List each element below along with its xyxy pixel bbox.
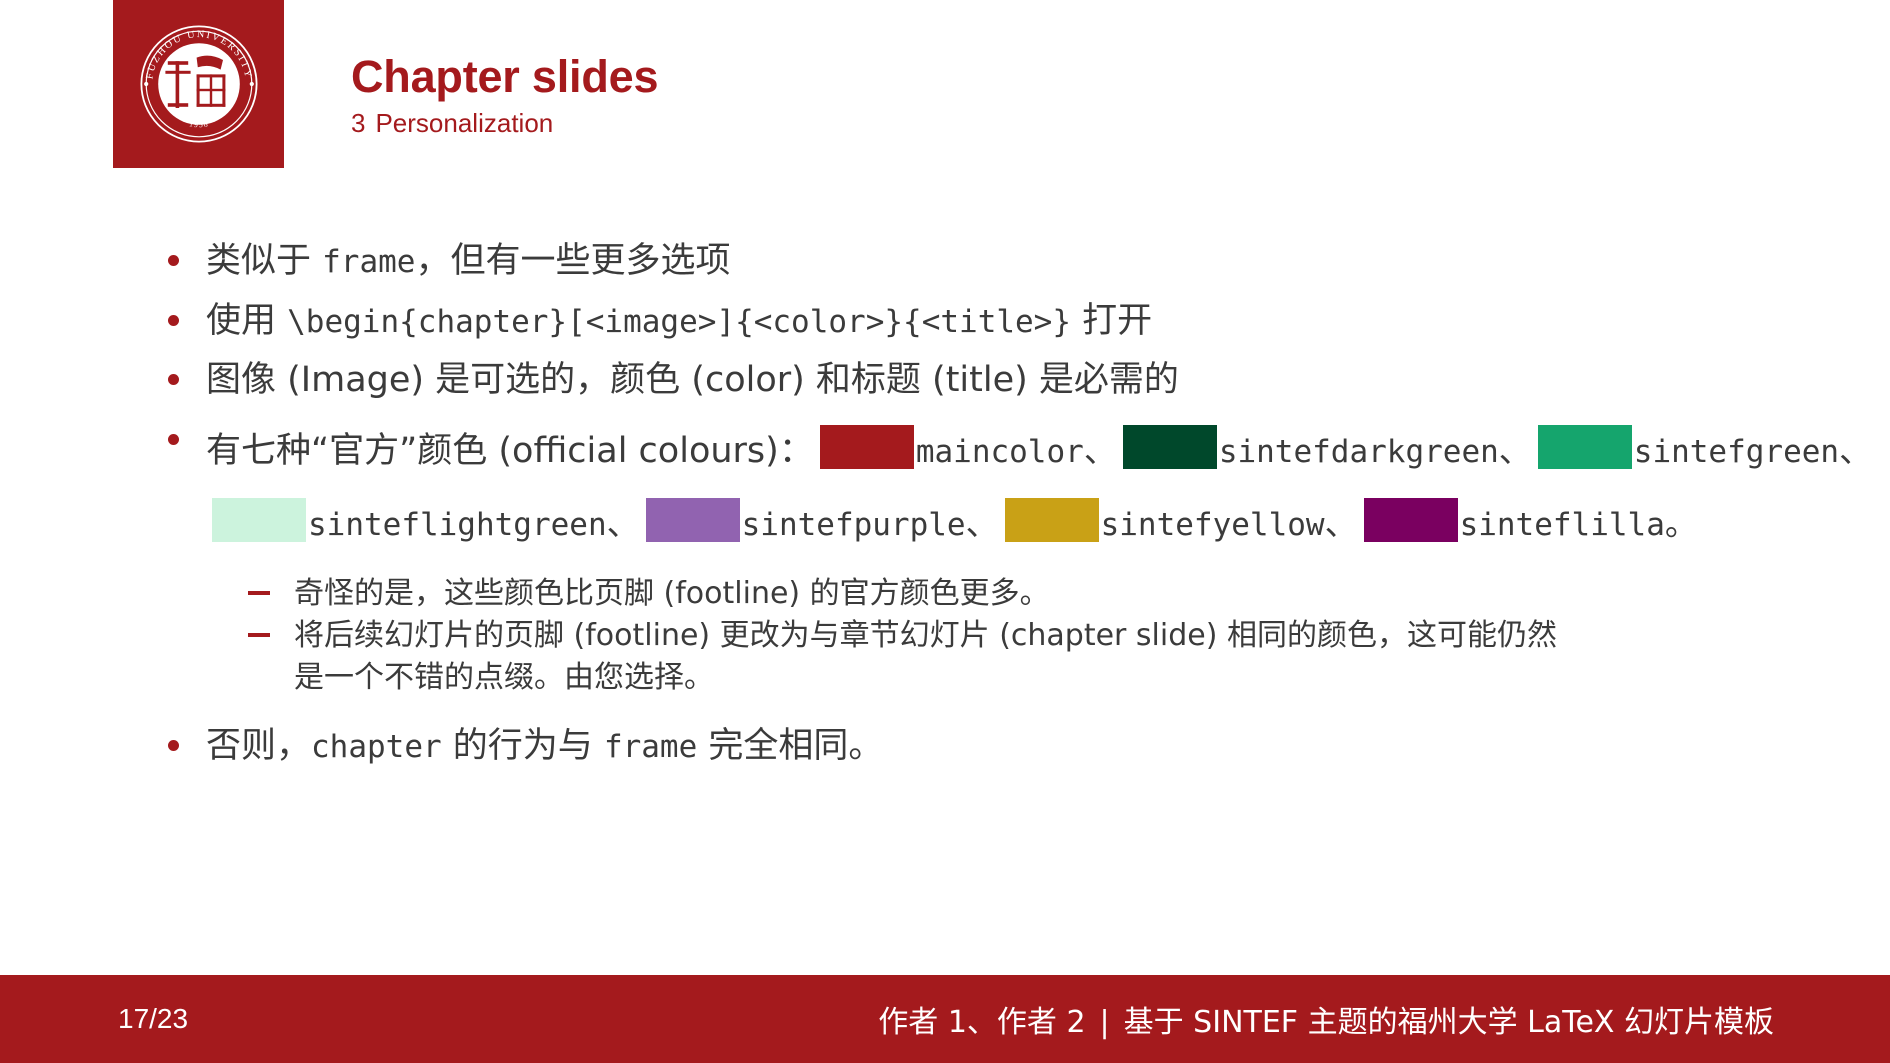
footer-caption: 作者 1、作者 2|基于 SINTEF 主题的福州大学 LaTeX 幻灯片模板 — [878, 997, 1774, 1041]
swatch-label-sinteflilla: sinteflilla — [1460, 507, 1665, 543]
bullet-text-segment: 打开 — [1071, 301, 1152, 341]
final-bullet-list: 否则，chapter 的行为与 frame 完全相同。 — [0, 721, 1890, 772]
swatch-sinteflilla — [1364, 498, 1458, 542]
swatch-label-sinteflightgreen: sinteflightgreen — [308, 507, 607, 543]
footer-divider: | — [1100, 1005, 1110, 1040]
sub-bullet-text: 将后续幻灯片的页脚 (footline) 更改为与章节幻灯片 (chapter … — [294, 618, 1557, 695]
bullet-text-segment: 否则， — [206, 726, 311, 766]
page-title: Chapter slides — [351, 54, 1551, 99]
bullet-code-segment: \begin{chapter}[<image>]{<color>}{<title… — [287, 304, 1071, 340]
bullet-otherwise: 否则，chapter 的行为与 frame 完全相同。 — [160, 721, 1890, 772]
swatch-label-sintefyellow: sintefyellow — [1101, 507, 1325, 543]
footer-bar: 17/23 作者 1、作者 2|基于 SINTEF 主题的福州大学 LaTeX … — [0, 975, 1890, 1063]
bullet-similar-to-frame: 类似于 frame，但有一些更多选项 — [160, 236, 1890, 287]
swatch-label-sintefdarkgreen: sintefdarkgreen — [1219, 434, 1499, 470]
bullet-text-segment: 的行为与 — [442, 726, 604, 766]
section-number: 3 — [351, 108, 365, 138]
swatch-sintefgreen — [1538, 425, 1632, 469]
bullet-text-segment: 使用 — [206, 301, 287, 341]
colour-separator: 、 — [1839, 431, 1872, 470]
colours-lead-text: 有七种“官方”颜色 (official colours)： — [206, 431, 814, 471]
page-subtitle: 3Personalization — [351, 108, 1551, 139]
swatch-label-maincolor: maincolor — [916, 434, 1084, 470]
bullet-usage: 使用 \begin{chapter}[<image>]{<color>}{<ti… — [160, 296, 1890, 347]
swatch-sintefdarkgreen — [1123, 425, 1217, 469]
bullet-code-segment: frame — [604, 729, 697, 765]
colour-separator: 、 — [607, 504, 640, 543]
footer-template-name: 基于 SINTEF 主题的福州大学 LaTeX 幻灯片模板 — [1124, 1005, 1774, 1040]
slide-root: FUZHOU UNIVERSITY 1958 Chapt — [0, 0, 1890, 1063]
colour-separator: 、 — [966, 504, 999, 543]
colour-separator: 、 — [1499, 431, 1532, 470]
fuzhou-university-seal-icon: FUZHOU UNIVERSITY 1958 — [139, 24, 259, 144]
bullet-code-segment: chapter — [311, 729, 442, 765]
dash-bullet-icon — [248, 633, 270, 637]
swatch-label-sintefgreen: sintefgreen — [1634, 434, 1839, 470]
sub-bullet-list: 奇怪的是，这些颜色比页脚 (footline) 的官方颜色更多。 将后续幻灯片的… — [0, 573, 1890, 699]
svg-text:1958: 1958 — [188, 119, 209, 129]
colour-separator: 、 — [1325, 504, 1358, 543]
colour-terminator: 。 — [1665, 504, 1698, 543]
sub-bullet-text: 奇怪的是，这些颜色比页脚 (footline) 的官方颜色更多。 — [294, 576, 1050, 611]
bullet-dot-icon — [168, 374, 179, 385]
bullet-text-segment: 完全相同。 — [697, 726, 883, 766]
swatch-sintefpurple — [646, 498, 740, 542]
swatch-sintefyellow — [1005, 498, 1099, 542]
colour-separator: 、 — [1084, 431, 1117, 470]
bullet-dot-icon — [168, 434, 179, 445]
colours-flow: 有七种“官方”颜色 (official colours)：maincolor、s… — [206, 415, 1890, 561]
swatch-label-sintefpurple: sintefpurple — [742, 507, 966, 543]
bullet-text-segment: 类似于 — [206, 241, 322, 281]
sub-bullet-footline-colour: 将后续幻灯片的页脚 (footline) 更改为与章节幻灯片 (chapter … — [248, 615, 1568, 699]
bullet-image-optional: 图像 (Image) 是可选的，颜色 (color) 和标题 (title) 是… — [160, 355, 1890, 406]
title-block: Chapter slides 3Personalization — [351, 54, 1551, 139]
footer-authors: 作者 1、作者 2 — [878, 1005, 1085, 1040]
dash-bullet-icon — [248, 591, 270, 595]
swatch-sinteflightgreen — [212, 498, 306, 542]
sub-bullet-more-colours: 奇怪的是，这些颜色比页脚 (footline) 的官方颜色更多。 — [248, 573, 1568, 615]
logo-block: FUZHOU UNIVERSITY 1958 — [113, 0, 284, 168]
bullet-dot-icon — [168, 255, 179, 266]
bullet-code-segment: frame — [322, 244, 415, 280]
page-number: 17/23 — [118, 1003, 188, 1035]
swatch-maincolor — [820, 425, 914, 469]
bullet-dot-icon — [168, 740, 179, 751]
slide-body: 类似于 frame，但有一些更多选项 使用 \begin{chapter}[<i… — [0, 236, 1890, 781]
bullet-list: 类似于 frame，但有一些更多选项 使用 \begin{chapter}[<i… — [0, 236, 1890, 561]
section-name: Personalization — [375, 108, 553, 138]
bullet-text-segment: ，但有一些更多选项 — [415, 241, 730, 281]
bullet-text-segment: 图像 (Image) 是可选的，颜色 (color) 和标题 (title) 是… — [206, 360, 1179, 400]
bullet-dot-icon — [168, 315, 179, 326]
bullet-official-colours: 有七种“官方”颜色 (official colours)：maincolor、s… — [160, 415, 1890, 561]
